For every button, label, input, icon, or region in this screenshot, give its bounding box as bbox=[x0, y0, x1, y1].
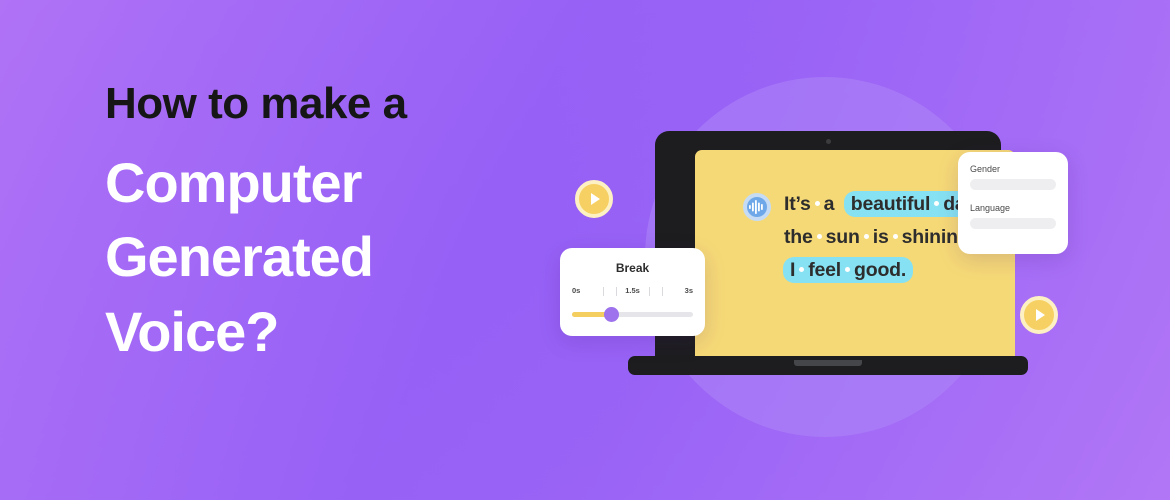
hero-banner: How to make a Computer Generated Voice? bbox=[0, 0, 1170, 500]
tts-word[interactable]: beautiful bbox=[851, 193, 930, 215]
break-slider[interactable] bbox=[572, 306, 693, 322]
tts-line: Ifeelgood. bbox=[784, 254, 1015, 287]
sound-wave-icon[interactable] bbox=[743, 193, 771, 221]
headline-line-3: Voice? bbox=[105, 295, 575, 369]
break-tick-label: 1.5s bbox=[625, 286, 640, 295]
camera-dot-icon bbox=[826, 139, 831, 144]
tts-word[interactable]: is bbox=[873, 226, 889, 248]
tts-word[interactable]: a bbox=[824, 193, 835, 215]
tts-word[interactable]: It’s bbox=[784, 193, 811, 215]
language-select[interactable] bbox=[970, 218, 1056, 229]
word-separator-dot bbox=[845, 267, 850, 272]
laptop-lid: It’sa beautifulday,thesunisshining,Ifeel… bbox=[655, 131, 1001, 365]
play-button-left[interactable] bbox=[575, 180, 613, 218]
headline-block: How to make a Computer Generated Voice? bbox=[105, 82, 575, 369]
break-scale: 0s1.5s3s bbox=[572, 286, 693, 298]
word-separator-dot bbox=[815, 201, 820, 206]
slider-thumb[interactable] bbox=[604, 307, 619, 322]
word-separator-dot bbox=[934, 201, 939, 206]
laptop-base bbox=[628, 356, 1028, 375]
break-card-title: Break bbox=[560, 261, 705, 275]
break-tick-mark bbox=[616, 287, 617, 296]
tts-word[interactable]: the bbox=[784, 226, 813, 248]
tts-word[interactable]: sun bbox=[826, 226, 860, 248]
break-tick-mark bbox=[649, 287, 650, 296]
gender-label: Gender bbox=[970, 164, 1068, 174]
gender-select[interactable] bbox=[970, 179, 1056, 190]
headline-line-2: Generated bbox=[105, 220, 575, 294]
play-icon bbox=[591, 193, 600, 205]
break-settings-card: Break 0s1.5s3s bbox=[560, 248, 705, 336]
break-tick-label: 3s bbox=[685, 286, 693, 295]
headline-kicker: How to make a bbox=[105, 82, 575, 126]
break-tick-mark bbox=[603, 287, 604, 296]
word-separator-dot bbox=[864, 234, 869, 239]
play-button-right[interactable] bbox=[1020, 296, 1058, 334]
break-tick-mark bbox=[662, 287, 663, 296]
word-separator-dot bbox=[893, 234, 898, 239]
tts-word[interactable]: good. bbox=[854, 259, 906, 281]
tts-word[interactable]: I bbox=[790, 259, 795, 281]
word-separator-dot bbox=[817, 234, 822, 239]
word-separator-dot bbox=[799, 267, 804, 272]
headline-line-1: Computer bbox=[105, 146, 575, 220]
tts-word[interactable]: feel bbox=[808, 259, 841, 281]
highlighted-phrase[interactable]: Ifeelgood. bbox=[783, 257, 913, 283]
language-label: Language bbox=[970, 203, 1068, 213]
play-icon bbox=[1036, 309, 1045, 321]
break-tick-label: 0s bbox=[572, 286, 580, 295]
voice-settings-card: Gender Language bbox=[958, 152, 1068, 254]
laptop-notch bbox=[794, 360, 862, 366]
